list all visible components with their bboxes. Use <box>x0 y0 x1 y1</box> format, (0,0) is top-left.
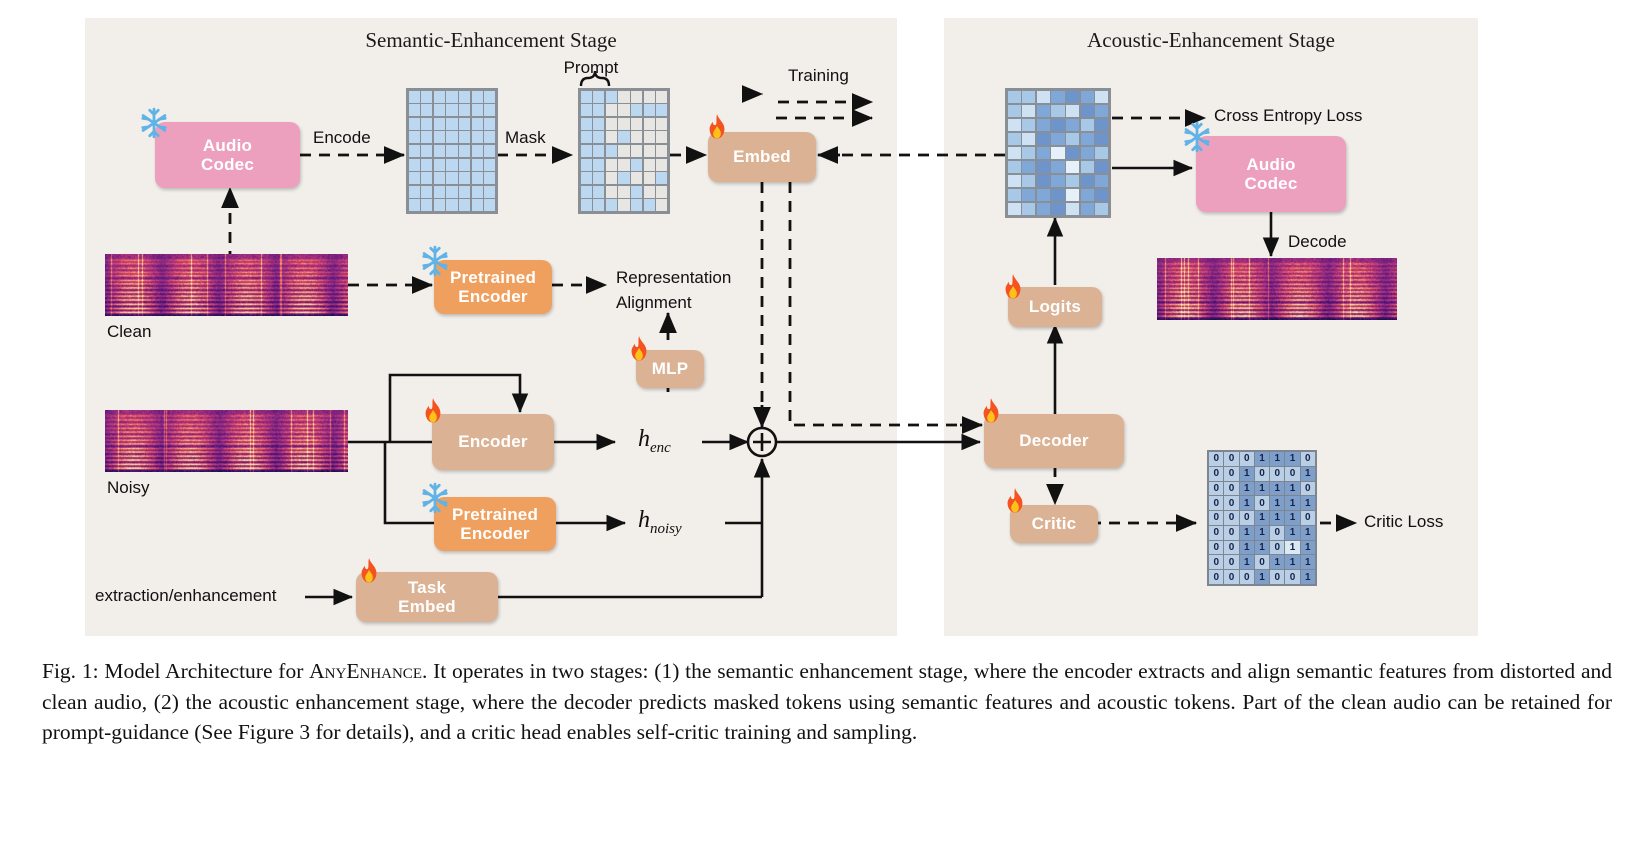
grid-cell <box>1022 119 1035 131</box>
critic-bit-cell: 0 <box>1224 482 1238 496</box>
grid-cell <box>434 199 445 211</box>
grid-cell <box>1081 147 1094 159</box>
grid-cell <box>1008 133 1021 145</box>
grid-cell <box>1081 119 1094 131</box>
edge-label-prompt: Prompt <box>548 58 634 78</box>
grid-cell <box>446 199 457 211</box>
grid-cell <box>1022 203 1035 215</box>
grid-cell <box>631 104 642 116</box>
grid-cell <box>593 199 604 211</box>
caption-model-name: AnyEnhance <box>309 659 422 683</box>
grid-cell <box>421 172 432 184</box>
critic-bit-cell: 0 <box>1209 452 1223 466</box>
grid-cell <box>1051 119 1064 131</box>
node-logits-label: Logits <box>1029 297 1081 316</box>
critic-bit-cell: 0 <box>1301 452 1315 466</box>
grid-cell <box>472 186 483 198</box>
grid-cell <box>581 91 592 103</box>
grid-cell <box>434 131 445 143</box>
grid-cell <box>446 104 457 116</box>
grid-cell <box>484 199 495 211</box>
grid-cell <box>446 145 457 157</box>
grid-cell <box>593 186 604 198</box>
grid-cell <box>644 104 655 116</box>
grid-cell <box>1008 175 1021 187</box>
critic-bit-cell: 0 <box>1209 482 1223 496</box>
critic-bit-cell: 0 <box>1301 482 1315 496</box>
grid-cell <box>446 91 457 103</box>
grid-cell <box>1095 119 1108 131</box>
label-h-enc: henc <box>638 426 671 457</box>
grid-cell <box>1037 175 1050 187</box>
grid-cell <box>593 91 604 103</box>
critic-bit-cell: 0 <box>1209 511 1223 525</box>
critic-bit-cell: 1 <box>1285 526 1299 540</box>
figure-root: Semantic-Enhancement Stage Acoustic-Enha… <box>0 0 1651 863</box>
node-pretrained-encoder-bottom-label: Pretrained Encoder <box>452 505 538 543</box>
grid-cell <box>1008 203 1021 215</box>
grid-cell <box>1037 105 1050 117</box>
grid-cell <box>1008 105 1021 117</box>
grid-cell <box>484 104 495 116</box>
grid-cell <box>1081 203 1094 215</box>
grid-cell <box>1037 91 1050 103</box>
critic-bit-cell: 0 <box>1224 555 1238 569</box>
grid-cell <box>581 145 592 157</box>
grid-cell <box>644 118 655 130</box>
grid-cell <box>631 159 642 171</box>
label-task-input: extraction/enhancement <box>95 586 276 606</box>
grid-cell <box>644 91 655 103</box>
grid-cell <box>618 159 629 171</box>
grid-cell <box>1081 175 1094 187</box>
grid-cell <box>1008 147 1021 159</box>
grid-cell <box>606 186 617 198</box>
grid-cell <box>644 172 655 184</box>
critic-bit-cell: 1 <box>1301 555 1315 569</box>
grid-cell <box>656 104 667 116</box>
node-task-embed-label: Task Embed <box>398 578 456 616</box>
critic-bit-cell: 0 <box>1209 541 1223 555</box>
grid-cell <box>581 104 592 116</box>
grid-cell <box>1066 175 1079 187</box>
grid-cell <box>472 131 483 143</box>
grid-cell <box>581 118 592 130</box>
grid-cell <box>606 104 617 116</box>
grid-cell <box>1022 105 1035 117</box>
grid-cell <box>656 118 667 130</box>
node-decoder-label: Decoder <box>1019 431 1088 450</box>
grid-cell <box>1051 133 1064 145</box>
grid-cell <box>421 104 432 116</box>
grid-cell <box>434 172 445 184</box>
grid-cell <box>1037 203 1050 215</box>
grid-cell <box>484 91 495 103</box>
grid-cell <box>1066 119 1079 131</box>
grid-cell <box>1008 91 1021 103</box>
grid-cell <box>472 159 483 171</box>
grid-cell <box>618 131 629 143</box>
grid-cell <box>1037 133 1050 145</box>
critic-bit-cell: 0 <box>1209 526 1223 540</box>
grid-cell <box>656 199 667 211</box>
label-critic-loss: Critic Loss <box>1364 512 1443 532</box>
grid-cell <box>618 172 629 184</box>
grid-cell <box>484 172 495 184</box>
critic-bit-cell: 0 <box>1270 541 1284 555</box>
grid-cell <box>1022 147 1035 159</box>
grid-cell <box>631 118 642 130</box>
grid-cell <box>1081 105 1094 117</box>
grid-cell <box>434 145 445 157</box>
grid-cell <box>606 145 617 157</box>
critic-bit-cell: 0 <box>1240 452 1254 466</box>
grid-cell <box>644 145 655 157</box>
grid-cell <box>446 159 457 171</box>
grid-cell <box>1037 161 1050 173</box>
grid-cell <box>618 91 629 103</box>
grid-critic-bits: 0001110001000100111100010111000111000110… <box>1207 450 1317 586</box>
label-cross-entropy-loss: Cross Entropy Loss <box>1214 106 1362 126</box>
node-embed[interactable]: Embed <box>708 132 816 182</box>
critic-bit-cell: 1 <box>1255 541 1269 555</box>
grid-cell <box>593 145 604 157</box>
grid-cell <box>644 199 655 211</box>
grid-cell <box>656 186 667 198</box>
grid-cell <box>434 104 445 116</box>
grid-cell <box>1066 91 1079 103</box>
critic-bit-cell: 0 <box>1224 526 1238 540</box>
grid-cell <box>484 145 495 157</box>
grid-cell <box>421 159 432 171</box>
critic-bit-cell: 0 <box>1270 570 1284 584</box>
grid-cell <box>446 172 457 184</box>
grid-cell <box>593 118 604 130</box>
critic-bit-cell: 1 <box>1270 555 1284 569</box>
grid-clean-tokens <box>406 88 498 214</box>
critic-bit-cell: 1 <box>1285 511 1299 525</box>
grid-cell <box>459 131 470 143</box>
grid-cell <box>409 118 420 130</box>
edge-label-training: Training <box>788 66 849 86</box>
critic-bit-cell: 0 <box>1209 555 1223 569</box>
critic-bit-cell: 1 <box>1301 467 1315 481</box>
caption-prefix: Fig. 1: Model Architecture for <box>42 659 309 683</box>
grid-cell <box>656 159 667 171</box>
grid-cell <box>1008 189 1021 201</box>
critic-bit-cell: 1 <box>1270 511 1284 525</box>
grid-masked-prompt <box>578 88 670 214</box>
critic-bit-cell: 0 <box>1224 452 1238 466</box>
grid-cell <box>1066 105 1079 117</box>
grid-cell <box>1081 133 1094 145</box>
grid-cell <box>1037 147 1050 159</box>
grid-cell <box>618 118 629 130</box>
grid-cell <box>472 172 483 184</box>
critic-bit-cell: 0 <box>1224 467 1238 481</box>
critic-bit-cell: 1 <box>1285 541 1299 555</box>
grid-cell <box>656 172 667 184</box>
grid-cell <box>421 145 432 157</box>
node-encoder[interactable]: Encoder <box>432 414 554 470</box>
grid-cell <box>1051 91 1064 103</box>
grid-cell <box>1066 161 1079 173</box>
edge-label-mask: Mask <box>505 128 546 148</box>
grid-cell <box>1095 175 1108 187</box>
node-mlp-label: MLP <box>652 359 688 378</box>
grid-cell <box>1022 175 1035 187</box>
grid-cell <box>1051 147 1064 159</box>
critic-bit-cell: 1 <box>1270 496 1284 510</box>
grid-cell <box>421 91 432 103</box>
panel-title-semantic: Semantic-Enhancement Stage <box>85 28 897 53</box>
grid-cell <box>606 131 617 143</box>
grid-cell <box>472 118 483 130</box>
grid-cell <box>421 186 432 198</box>
critic-bit-cell: 0 <box>1240 570 1254 584</box>
node-mlp[interactable]: MLP <box>636 350 704 388</box>
grid-cell <box>1066 189 1079 201</box>
critic-bit-cell: 1 <box>1240 541 1254 555</box>
critic-bit-cell: 1 <box>1255 511 1269 525</box>
grid-cell <box>459 104 470 116</box>
critic-bit-cell: 1 <box>1240 555 1254 569</box>
critic-bit-cell: 0 <box>1255 496 1269 510</box>
node-audio-codec-right-label: Audio Codec <box>1245 155 1298 193</box>
grid-cell <box>421 118 432 130</box>
grid-cell <box>434 118 445 130</box>
grid-cell <box>1051 105 1064 117</box>
grid-cell <box>618 186 629 198</box>
grid-cell <box>1066 147 1079 159</box>
critic-bit-cell: 1 <box>1255 570 1269 584</box>
grid-cell <box>1081 161 1094 173</box>
edge-label-decode: Decode <box>1288 232 1347 252</box>
spectrogram-clean-caption: Clean <box>107 322 151 342</box>
critic-bit-cell: 1 <box>1270 482 1284 496</box>
grid-cell <box>434 159 445 171</box>
grid-cell <box>434 186 445 198</box>
node-critic-label: Critic <box>1032 514 1077 533</box>
critic-bit-cell: 1 <box>1301 541 1315 555</box>
critic-bit-cell: 0 <box>1209 496 1223 510</box>
edge-label-encode: Encode <box>313 128 371 148</box>
spectrogram-decoded <box>1157 258 1397 320</box>
node-pretrained-encoder-top[interactable]: Pretrained Encoder <box>434 260 552 314</box>
critic-bit-cell: 0 <box>1224 570 1238 584</box>
grid-cell <box>1095 133 1108 145</box>
grid-cell <box>656 145 667 157</box>
critic-bit-cell: 0 <box>1255 467 1269 481</box>
critic-bit-cell: 0 <box>1301 511 1315 525</box>
critic-bit-cell: 0 <box>1240 511 1254 525</box>
grid-cell <box>656 131 667 143</box>
node-audio-codec-left[interactable]: Audio Codec <box>155 122 300 188</box>
grid-cell <box>1022 91 1035 103</box>
grid-cell <box>1037 119 1050 131</box>
grid-cell <box>1022 189 1035 201</box>
spectrogram-noisy <box>105 410 348 472</box>
critic-bit-cell: 1 <box>1255 526 1269 540</box>
critic-bit-cell: 1 <box>1285 452 1299 466</box>
grid-cell <box>656 91 667 103</box>
node-logits[interactable]: Logits <box>1008 287 1102 327</box>
grid-cell <box>446 186 457 198</box>
grid-cell <box>606 91 617 103</box>
node-encoder-label: Encoder <box>458 432 527 451</box>
grid-cell <box>1081 91 1094 103</box>
grid-cell <box>1095 105 1108 117</box>
critic-bit-cell: 1 <box>1255 452 1269 466</box>
grid-cell <box>581 172 592 184</box>
grid-cell <box>409 172 420 184</box>
grid-cell <box>606 118 617 130</box>
grid-cell <box>1051 175 1064 187</box>
critic-bit-cell: 1 <box>1240 496 1254 510</box>
label-representation-alignment-line2: Alignment <box>616 293 692 313</box>
grid-cell <box>459 199 470 211</box>
grid-cell <box>581 131 592 143</box>
critic-bit-cell: 1 <box>1301 526 1315 540</box>
figure-caption: Fig. 1: Model Architecture for AnyEnhanc… <box>42 656 1612 748</box>
critic-bit-cell: 0 <box>1270 467 1284 481</box>
grid-cell <box>1095 161 1108 173</box>
grid-cell <box>606 172 617 184</box>
grid-cell <box>631 131 642 143</box>
grid-cell <box>1066 133 1079 145</box>
grid-cell <box>631 91 642 103</box>
grid-cell <box>1037 189 1050 201</box>
grid-cell <box>421 199 432 211</box>
grid-cell <box>1081 189 1094 201</box>
grid-cell <box>409 131 420 143</box>
critic-bit-cell: 0 <box>1224 541 1238 555</box>
grid-cell <box>472 91 483 103</box>
grid-cell <box>459 145 470 157</box>
grid-cell <box>618 145 629 157</box>
grid-cell <box>1051 203 1064 215</box>
grid-cell <box>593 172 604 184</box>
critic-bit-cell: 0 <box>1209 467 1223 481</box>
grid-cell <box>421 131 432 143</box>
node-embed-label: Embed <box>733 147 791 166</box>
critic-bit-cell: 0 <box>1224 496 1238 510</box>
critic-bit-cell: 1 <box>1301 496 1315 510</box>
critic-bit-cell: 0 <box>1285 467 1299 481</box>
critic-bit-cell: 1 <box>1255 482 1269 496</box>
critic-bit-cell: 1 <box>1240 482 1254 496</box>
grid-cell <box>459 118 470 130</box>
grid-cell <box>409 199 420 211</box>
grid-cell <box>1022 133 1035 145</box>
grid-cell <box>409 91 420 103</box>
grid-cell <box>484 159 495 171</box>
node-audio-codec-right[interactable]: Audio Codec <box>1196 136 1346 212</box>
grid-cell <box>472 104 483 116</box>
grid-cell <box>409 104 420 116</box>
node-pretrained-encoder-bottom[interactable]: Pretrained Encoder <box>434 497 556 551</box>
grid-cell <box>606 159 617 171</box>
grid-cell <box>1008 161 1021 173</box>
grid-cell <box>644 159 655 171</box>
grid-cell <box>434 91 445 103</box>
grid-cell <box>1008 119 1021 131</box>
grid-cell <box>459 159 470 171</box>
critic-bit-cell: 0 <box>1224 511 1238 525</box>
node-decoder[interactable]: Decoder <box>984 414 1124 468</box>
critic-bit-cell: 1 <box>1240 526 1254 540</box>
critic-bit-cell: 1 <box>1285 482 1299 496</box>
grid-cell <box>593 131 604 143</box>
grid-cell <box>593 159 604 171</box>
panel-title-acoustic: Acoustic-Enhancement Stage <box>944 28 1478 53</box>
grid-cell <box>644 186 655 198</box>
grid-cell <box>472 145 483 157</box>
grid-cell <box>446 131 457 143</box>
grid-cell <box>644 131 655 143</box>
critic-bit-cell: 0 <box>1285 570 1299 584</box>
grid-cell <box>1095 203 1108 215</box>
node-pretrained-encoder-top-label: Pretrained Encoder <box>450 268 536 306</box>
grid-cell <box>631 186 642 198</box>
grid-cell <box>1095 147 1108 159</box>
grid-cell <box>1066 203 1079 215</box>
critic-bit-cell: 0 <box>1209 570 1223 584</box>
grid-cell <box>618 199 629 211</box>
grid-acoustic-tokens <box>1005 88 1111 218</box>
grid-cell <box>1022 161 1035 173</box>
grid-cell <box>409 145 420 157</box>
grid-cell <box>472 199 483 211</box>
critic-bit-cell: 1 <box>1301 570 1315 584</box>
grid-cell <box>484 186 495 198</box>
label-h-noisy: hnoisy <box>638 507 682 538</box>
critic-bit-cell: 1 <box>1285 496 1299 510</box>
grid-cell <box>631 145 642 157</box>
node-audio-codec-left-label: Audio Codec <box>201 136 254 174</box>
spectrogram-noisy-caption: Noisy <box>107 478 150 498</box>
grid-cell <box>1051 161 1064 173</box>
critic-bit-cell: 1 <box>1285 555 1299 569</box>
grid-cell <box>631 199 642 211</box>
grid-cell <box>459 172 470 184</box>
grid-cell <box>409 159 420 171</box>
grid-cell <box>581 159 592 171</box>
critic-bit-cell: 1 <box>1270 452 1284 466</box>
grid-cell <box>409 186 420 198</box>
grid-cell <box>1051 189 1064 201</box>
spectrogram-clean <box>105 254 348 316</box>
grid-cell <box>581 199 592 211</box>
sum-node <box>746 426 778 458</box>
grid-cell <box>631 172 642 184</box>
grid-cell <box>593 104 604 116</box>
critic-bit-cell: 0 <box>1270 526 1284 540</box>
critic-bit-cell: 1 <box>1240 467 1254 481</box>
grid-cell <box>618 104 629 116</box>
grid-cell <box>459 186 470 198</box>
node-critic[interactable]: Critic <box>1010 505 1098 543</box>
critic-bit-cell: 0 <box>1255 555 1269 569</box>
grid-cell <box>581 186 592 198</box>
grid-cell <box>484 131 495 143</box>
label-representation-alignment-line1: Representation <box>616 268 731 288</box>
grid-cell <box>459 91 470 103</box>
node-task-embed[interactable]: Task Embed <box>356 572 498 622</box>
grid-cell <box>606 199 617 211</box>
grid-cell <box>484 118 495 130</box>
grid-cell <box>1095 189 1108 201</box>
